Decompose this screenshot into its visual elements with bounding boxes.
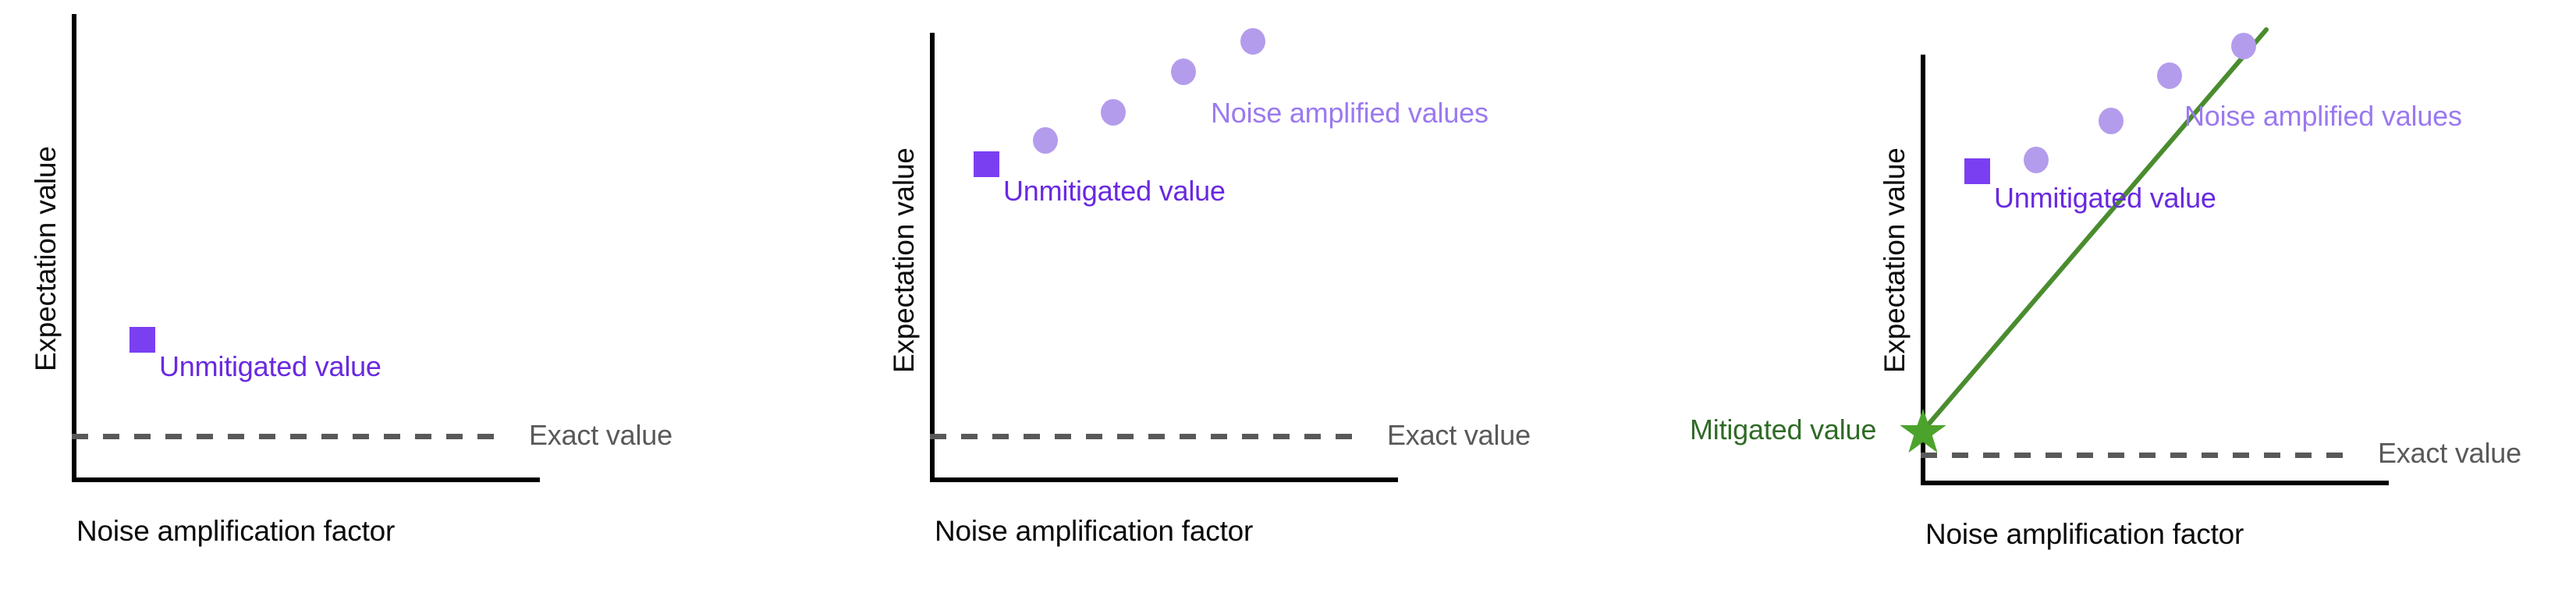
exact-value-label: Exact value [529,419,672,452]
exact-value-line [72,434,509,439]
x-axis-line [930,477,1398,482]
mitigated-value-star-icon [1899,407,1947,456]
noise-amplified-point [1171,59,1196,85]
unmitigated-value-marker [130,327,155,353]
noise-amplified-point [2157,62,2182,89]
mitigated-value-label: Mitigated value [1690,414,1876,446]
figure-canvas: Expectation value Noise amplification fa… [0,0,2576,607]
exact-value-label: Exact value [1387,419,1531,452]
unmitigated-value-label: Unmitigated value [1003,175,1226,208]
noise-amplified-point [2231,33,2256,59]
unmitigated-value-marker [974,151,999,177]
exact-value-line [1921,453,2358,458]
noise-amplified-point [2099,108,2124,134]
exact-value-line [930,434,1367,439]
panel-1-unmitigated-only: Expectation value Noise amplification fa… [0,0,819,607]
y-axis-label: Expectation value [888,147,921,373]
noise-amplified-values-label: Noise amplified values [2184,100,2462,133]
unmitigated-value-label: Unmitigated value [159,350,381,383]
noise-amplified-point [1033,127,1058,154]
x-axis-line [1921,481,2389,485]
x-axis-label: Noise amplification factor [76,515,395,548]
y-axis-line [930,33,935,482]
noise-amplified-point [2024,147,2049,173]
x-axis-line [72,477,540,482]
x-axis-label: Noise amplification factor [935,515,1253,548]
noise-amplified-values-label: Noise amplified values [1211,97,1488,130]
x-axis-label: Noise amplification factor [1925,518,2244,551]
unmitigated-value-marker [1964,158,1990,184]
panel-2-noise-amplified: Expectation value Noise amplification fa… [858,0,1716,607]
noise-amplified-point [1240,28,1265,55]
y-axis-line [72,14,76,482]
unmitigated-value-label: Unmitigated value [1994,182,2216,215]
noise-amplified-point [1101,99,1126,126]
panel-3-extrapolated-mitigated: Expectation value Noise amplification fa… [1716,0,2576,607]
y-axis-label: Expectation value [30,146,62,371]
y-axis-label: Expectation value [1879,147,1911,373]
